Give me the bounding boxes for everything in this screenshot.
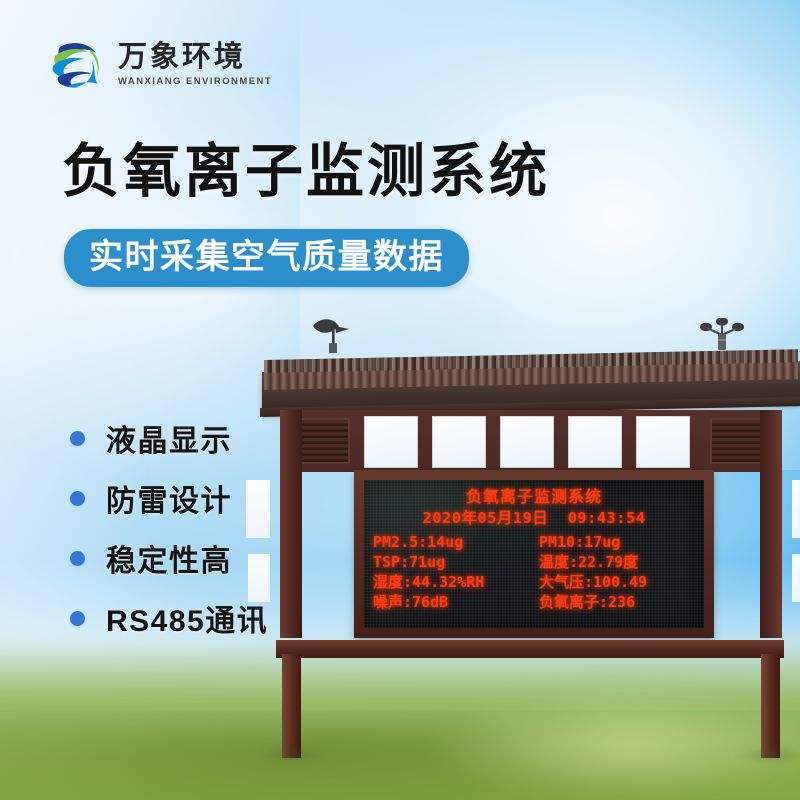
leg-shadow-right (736, 748, 800, 762)
window-pane (636, 416, 690, 468)
reading-humidity: 湿度:44.32%RH (371, 575, 531, 590)
led-time: 09:43:54 (568, 509, 646, 527)
globe-swoosh-logo-icon (46, 34, 108, 96)
support-leg-left (282, 654, 301, 758)
side-window-lower-left (248, 554, 270, 602)
led-date: 2020年05月19日 (423, 509, 549, 527)
bullet-dot-icon (70, 431, 85, 446)
leg-shadow-left (256, 748, 326, 762)
page-title: 负氧离子监测系统 (62, 143, 550, 201)
poster-canvas: 万象环境 WANXIANG ENVIRONMENT 负氧离子监测系统 实时采集空… (0, 0, 800, 800)
post-left (280, 410, 302, 638)
reading-noise: 噪声:76dB (371, 595, 531, 610)
brand-name-en: WANXIANG ENVIRONMENT (118, 77, 272, 87)
list-item: 防雷设计 (70, 468, 268, 528)
support-leg-right (761, 654, 780, 758)
brand-logo: 万象环境 WANXIANG ENVIRONMENT (46, 34, 272, 96)
reading-pm25: PM2.5:14ug (371, 535, 531, 550)
bullet-dot-icon (70, 551, 85, 566)
led-reading-row: TSP:71ug 温度:22.79度 (371, 555, 697, 570)
reading-pm10: PM10:17ug (531, 535, 697, 550)
feature-label: RS485通讯 (106, 596, 268, 640)
cross-beam (276, 640, 784, 658)
tiled-roof (262, 352, 800, 414)
led-title: 负氧离子监测系统 (371, 489, 697, 505)
subtitle-badge: 实时采集空气质量数据 (64, 229, 469, 287)
list-item: 稳定性高 (70, 528, 268, 588)
reading-negative-oxygen: 负氧离子:236 (531, 595, 697, 610)
window-pane (568, 416, 622, 468)
side-window-lower-right (792, 554, 800, 602)
window-pane (432, 416, 486, 468)
side-window-left (246, 480, 270, 538)
feature-list: 液晶显示 防雷设计 稳定性高 RS485通讯 (70, 408, 268, 648)
post-right (760, 410, 782, 638)
list-item: 液晶显示 (70, 408, 268, 468)
led-datetime: 2020年05月19日 09:43:54 (371, 511, 697, 527)
feature-label: 稳定性高 (106, 536, 232, 580)
brand-name-cn: 万象环境 (118, 43, 272, 72)
led-reading-row: 湿度:44.32%RH 大气压:100.49 (371, 575, 697, 590)
monitoring-station-billboard: 负氧离子监测系统 2020年05月19日 09:43:54 PM2.5:14ug… (262, 318, 800, 758)
feature-label: 防雷设计 (106, 476, 232, 520)
led-reading-row: PM2.5:14ug PM10:17ug (371, 535, 697, 550)
window-pane (364, 416, 418, 468)
reading-temperature: 温度:22.79度 (531, 555, 697, 570)
window-pane (500, 416, 554, 468)
feature-label: 液晶显示 (106, 416, 232, 460)
led-reading-row: 噪声:76dB 负氧离子:236 (371, 595, 697, 610)
side-window-right (792, 480, 800, 538)
led-screen[interactable]: 负氧离子监测系统 2020年05月19日 09:43:54 PM2.5:14ug… (364, 480, 704, 628)
reading-pressure: 大气压:100.49 (531, 575, 697, 590)
led-display-frame: 负氧离子监测系统 2020年05月19日 09:43:54 PM2.5:14ug… (354, 470, 714, 638)
bullet-dot-icon (70, 611, 85, 626)
list-item: RS485通讯 (70, 588, 268, 648)
upper-cabinet (280, 410, 780, 472)
led-readings: PM2.5:14ug PM10:17ug TSP:71ug 温度:22.79度 … (371, 535, 697, 610)
wind-vane-icon (308, 314, 354, 356)
reading-tsp: TSP:71ug (371, 555, 531, 570)
bullet-dot-icon (70, 491, 85, 506)
